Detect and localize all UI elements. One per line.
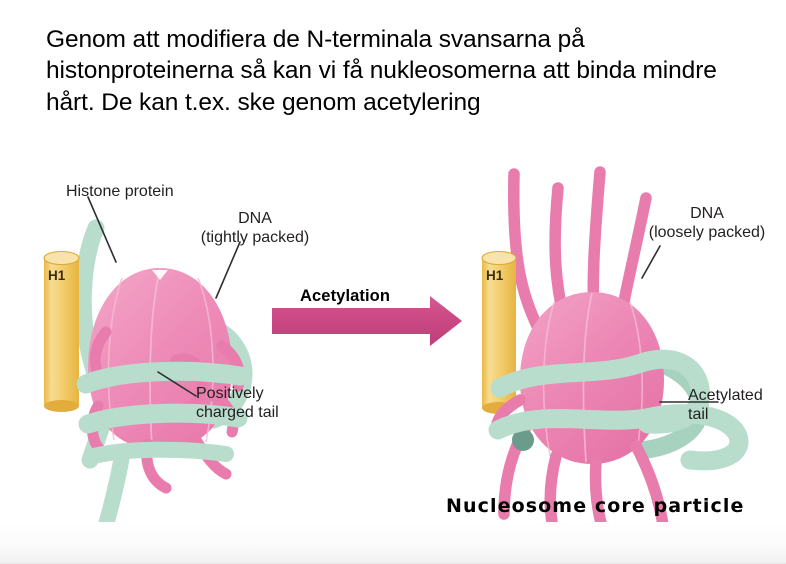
label-dna-loosely-packed: DNA (loosely packed) <box>628 205 786 243</box>
page-title: Genom att modifiera de N-terminala svans… <box>46 24 762 118</box>
label-acetylation: Acetylation <box>300 287 390 306</box>
acetylation-diagram: Histone protein DNA (tightly packed) Pos… <box>0 150 786 550</box>
label-positively-charged-tail: Positively charged tail <box>196 385 356 423</box>
caption-nucleosome-core-particle: Nucleosome core particle <box>446 495 744 517</box>
slide-bottom-strip <box>0 522 786 564</box>
h1-label-left: H1 <box>48 268 65 283</box>
label-dna-tightly-packed: DNA (tightly packed) <box>170 210 340 248</box>
label-acetylated-tail: Acetylated tail <box>688 387 784 425</box>
label-histone-protein: Histone protein <box>66 183 236 202</box>
left-nucleosome-group <box>44 197 244 550</box>
h1-label-right: H1 <box>486 268 503 283</box>
